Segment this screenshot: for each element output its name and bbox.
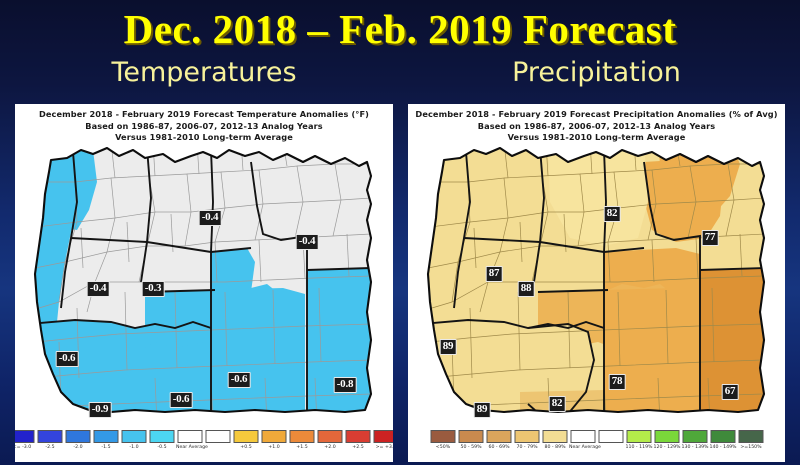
precipitation-value-label: 87 — [486, 266, 503, 282]
temperature-legend-label: <= -3.0 — [15, 444, 36, 451]
precipitation-legend-cell: 70 - 79% — [514, 430, 539, 450]
temperature-legend-label: -1.0 — [120, 444, 148, 451]
precipitation-legend-label: Near Average — [569, 444, 597, 451]
temperature-legend-cell: +2.5 — [346, 430, 371, 450]
temperature-legend-cell: +0.5 — [234, 430, 259, 450]
precipitation-legend-label: 60 - 69% — [485, 444, 513, 451]
temperature-legend-cell: +1.5 — [290, 430, 315, 450]
temperature-legend-cell: +1.0 — [262, 430, 287, 450]
temperature-value-label: -0.4 — [87, 281, 110, 297]
precipitation-header-line-2: Based on 1986-87, 2006-07, 2012-13 Analo… — [408, 121, 785, 133]
temperature-map-graphic: -0.4 -0.4 -0.4 -0.3 -0.6 -0.9 -0.6 -0.6 … — [15, 142, 393, 424]
temperature-legend-label: +1.0 — [260, 444, 288, 451]
precipitation-legend-swatch — [598, 430, 623, 443]
precipitation-value-label: 89 — [440, 339, 457, 355]
temperature-legend-label: -2.0 — [64, 444, 92, 451]
temperature-value-label: -0.6 — [228, 372, 251, 388]
precipitation-legend-cell: 140 - 149% — [710, 430, 735, 450]
temperature-map-header: December 2018 - February 2019 Forecast T… — [15, 109, 393, 144]
temperature-legend-cell: Near Average — [178, 430, 203, 450]
temperature-value-label: -0.4 — [296, 234, 319, 250]
temperature-legend: <= -3.0-2.5-2.0-1.5-1.0-0.5Near Average+… — [15, 428, 393, 460]
precipitation-map-header: December 2018 - February 2019 Forecast P… — [408, 109, 785, 144]
precipitation-legend-cell: >=150% — [738, 430, 763, 450]
precipitation-legend-cell: <50% — [430, 430, 455, 450]
precipitation-legend: <50%50 - 59%60 - 69%70 - 79%80 - 89%Near… — [408, 428, 785, 460]
temperature-legend-swatch — [262, 430, 287, 443]
precipitation-legend-label: 110 - 119% — [625, 444, 653, 451]
precipitation-legend-label: >=150% — [737, 444, 765, 451]
temperature-legend-cell: -0.5 — [150, 430, 175, 450]
temperature-value-label: -0.3 — [142, 281, 165, 297]
temperature-legend-swatch — [374, 430, 394, 443]
temperature-legend-swatch — [178, 430, 203, 443]
precipitation-legend-swatch — [682, 430, 707, 443]
temperature-legend-swatch — [318, 430, 343, 443]
temperature-header-line-2: Based on 1986-87, 2006-07, 2012-13 Analo… — [15, 121, 393, 133]
oregon-precipitation-svg — [408, 142, 785, 424]
precipitation-legend-cell: 110 - 119% — [626, 430, 651, 450]
temperature-legend-swatch — [206, 430, 231, 443]
precipitation-legend-swatch — [738, 430, 763, 443]
temperature-legend-cell: -1.5 — [94, 430, 119, 450]
precipitation-legend-swatch — [430, 430, 455, 443]
precipitation-legend-swatch — [626, 430, 651, 443]
temperature-map-panel: December 2018 - February 2019 Forecast T… — [15, 104, 393, 462]
temperature-legend-label: -2.5 — [36, 444, 64, 451]
temperature-legend-cell: -1.0 — [122, 430, 147, 450]
precipitation-header-line-1: December 2018 - February 2019 Forecast P… — [408, 109, 785, 121]
precipitation-legend-label: <50% — [429, 444, 457, 451]
temperature-legend-cell: >= +3.0 — [374, 430, 394, 450]
precipitation-value-label: 67 — [722, 384, 739, 400]
temperature-legend-swatch — [234, 430, 259, 443]
temperature-legend-cell: -2.0 — [66, 430, 91, 450]
temperature-legend-label: Near Average — [176, 444, 204, 451]
temperature-value-label: -0.6 — [56, 351, 79, 367]
temperature-legend-swatch — [66, 430, 91, 443]
precipitation-section-title: Precipitation — [408, 57, 785, 89]
temperature-legend-swatch — [150, 430, 175, 443]
precipitation-legend-cell: 130 - 139% — [682, 430, 707, 450]
temperature-legend-swatch — [94, 430, 119, 443]
temperature-value-label: -0.6 — [170, 392, 193, 408]
temperature-legend-cell — [206, 430, 231, 450]
temperature-legend-cell: -2.5 — [38, 430, 63, 450]
temperature-legend-label: +0.5 — [232, 444, 260, 451]
temperature-legend-swatch — [290, 430, 315, 443]
precipitation-legend-swatch — [458, 430, 483, 443]
precipitation-legend-swatch — [542, 430, 567, 443]
temperature-legend-swatch — [15, 430, 35, 443]
precipitation-value-label: 78 — [609, 374, 626, 390]
page-title: Dec. 2018 – Feb. 2019 Forecast — [0, 6, 800, 52]
precipitation-legend-swatch — [710, 430, 735, 443]
precipitation-legend-label: 130 - 139% — [681, 444, 709, 451]
temperature-value-label: -0.4 — [199, 210, 222, 226]
precipitation-legend-cell: 50 - 59% — [458, 430, 483, 450]
precipitation-legend-swatch — [654, 430, 679, 443]
temperature-legend-swatch — [38, 430, 63, 443]
temperature-legend-cell: +2.0 — [318, 430, 343, 450]
precipitation-legend-cell: Near Average — [570, 430, 595, 450]
precipitation-legend-swatch — [514, 430, 539, 443]
temperature-value-label: -0.9 — [89, 402, 112, 418]
temperature-legend-swatch — [122, 430, 147, 443]
precipitation-map-panel: December 2018 - February 2019 Forecast P… — [408, 104, 785, 462]
precipitation-value-label: 77 — [702, 230, 719, 246]
temperature-legend-label: +1.5 — [288, 444, 316, 451]
temperature-legend-label: -1.5 — [92, 444, 120, 451]
precipitation-legend-cell: 80 - 89% — [542, 430, 567, 450]
temperature-legend-cell: <= -3.0 — [15, 430, 35, 450]
precipitation-legend-cell: 120 - 129% — [654, 430, 679, 450]
precipitation-map-graphic: 82 77 87 88 89 89 82 78 67 — [408, 142, 785, 424]
temperature-section-title: Temperatures — [15, 57, 393, 89]
precipitation-value-label: 82 — [549, 396, 566, 412]
temperature-legend-label: +2.0 — [316, 444, 344, 451]
precipitation-legend-label: 120 - 129% — [653, 444, 681, 451]
temperature-value-label: -0.8 — [334, 377, 357, 393]
temperature-header-line-1: December 2018 - February 2019 Forecast T… — [15, 109, 393, 121]
temperature-legend-label: -0.5 — [148, 444, 176, 451]
precipitation-value-label: 88 — [518, 281, 535, 297]
temperature-legend-label: >= +3.0 — [372, 444, 393, 451]
precipitation-legend-swatch — [486, 430, 511, 443]
temperature-legend-label: +2.5 — [344, 444, 372, 451]
temperature-legend-swatch — [346, 430, 371, 443]
precipitation-value-label: 82 — [604, 206, 621, 222]
precipitation-value-label: 89 — [474, 402, 491, 418]
precipitation-legend-label: 50 - 59% — [457, 444, 485, 451]
precipitation-legend-label: 70 - 79% — [513, 444, 541, 451]
precipitation-legend-cell — [598, 430, 623, 450]
slide-root: Dec. 2018 – Feb. 2019 Forecast Temperatu… — [0, 0, 800, 465]
precipitation-legend-label: 140 - 149% — [709, 444, 737, 451]
precipitation-legend-swatch — [570, 430, 595, 443]
precipitation-legend-cell: 60 - 69% — [486, 430, 511, 450]
precipitation-legend-label: 80 - 89% — [541, 444, 569, 451]
